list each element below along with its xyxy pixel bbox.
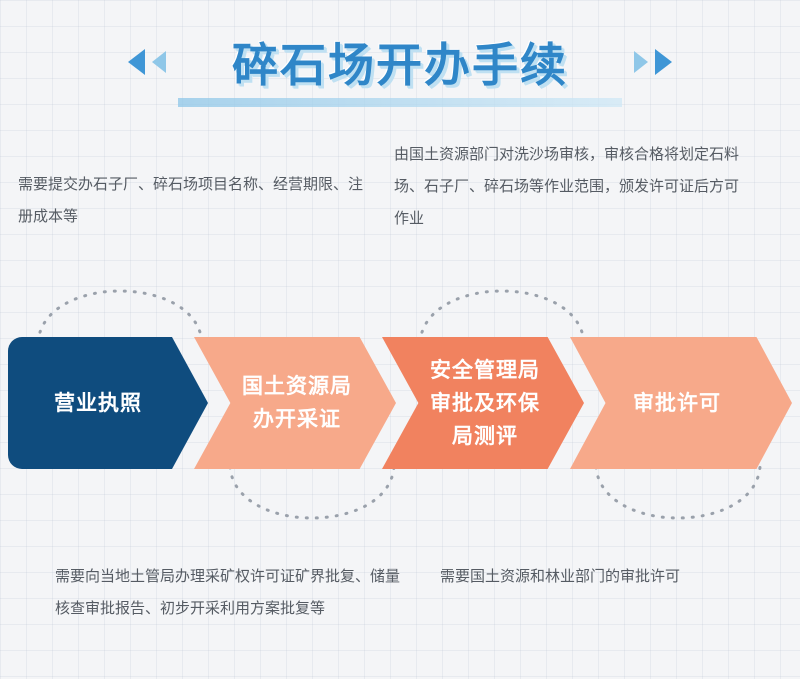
connector-arc-step4 [588,463,768,547]
connector-arc-step1 [30,262,210,346]
process-step-1-label: 营业执照 [46,387,150,420]
note-bottom-right: 需要国土资源和林业部门的审批许可 [440,560,770,592]
connector-arc-step3 [412,262,592,346]
left-arrow-icon [128,49,145,75]
process-step-4[interactable]: 审批许可 [570,337,792,469]
note-bottom-left: 需要向当地土管局办理采矿权许可证矿界批复、储量核查审批报告、初步开采利用方案批复… [55,560,405,624]
process-step-4-label: 审批许可 [625,387,729,420]
process-step-1[interactable]: 营业执照 [8,337,208,469]
process-step-2[interactable]: 国土资源局办开采证 [194,337,396,469]
process-step-2-label: 国土资源局办开采证 [234,370,360,436]
title-underline [178,98,622,107]
process-step-3[interactable]: 安全管理局审批及环保局测评 [382,337,584,469]
right-arrow-icon [655,49,672,75]
note-top-right: 由国土资源部门对洗沙场审核，审核合格将划定石料场、石子厂、碎石场等作业范围，颁发… [394,138,739,234]
page-title: 碎石场开办手续 [214,29,586,95]
connector-arc-step2 [222,463,402,547]
process-step-3-label: 安全管理局审批及环保局测评 [422,354,548,453]
page-title-container: 碎石场开办手续 [0,18,800,106]
left-arrow-secondary-icon [152,51,166,73]
process-flow-band: 营业执照 国土资源局办开采证 安全管理局审批及环保局测评 审批许可 [8,337,792,469]
note-top-left: 需要提交办石子厂、碎石场项目名称、经营期限、注册成本等 [18,168,368,232]
right-arrow-secondary-icon [634,51,648,73]
